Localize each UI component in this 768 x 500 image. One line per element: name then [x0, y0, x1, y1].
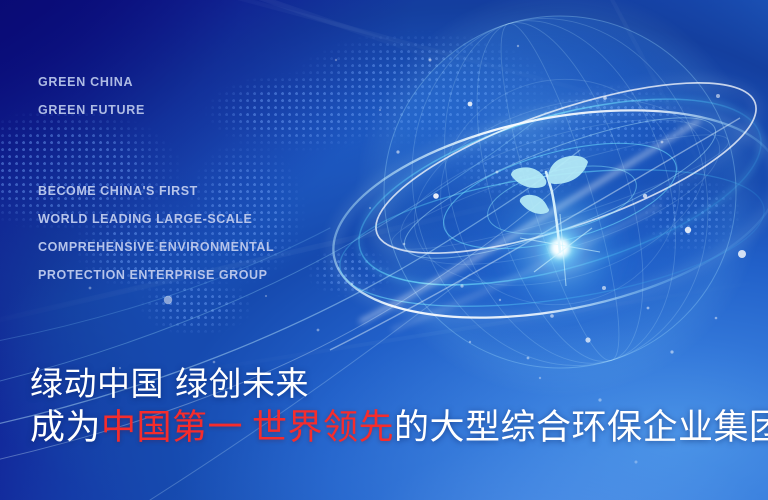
english-main-line-3: COMPREHENSIVE ENVIRONMENTAL: [38, 233, 274, 261]
chinese-headline-line-1: 绿动中国 绿创未来: [30, 364, 768, 404]
english-main-slogan: BECOME CHINA'S FIRST WORLD LEADING LARGE…: [38, 177, 274, 289]
core-light-trail: [330, 118, 740, 350]
chinese-headline: 绿动中国 绿创未来 成为中国第一世界领先的大型综合环保企业集团: [30, 364, 768, 450]
english-top-line-2: GREEN FUTURE: [38, 96, 145, 124]
english-main-line-1: BECOME CHINA'S FIRST: [38, 177, 274, 205]
english-main-line-4: PROTECTION ENTERPRISE GROUP: [38, 261, 274, 289]
globe-core-glow: [498, 186, 622, 310]
hero-banner: GREEN CHINA GREEN FUTURE BECOME CHINA'S …: [0, 0, 768, 500]
headline-highlight-world-leading: 世界领先: [252, 408, 394, 448]
english-top-line-1: GREEN CHINA: [38, 68, 145, 96]
headline-prefix: 成为: [30, 408, 101, 448]
english-top-slogan: GREEN CHINA GREEN FUTURE: [38, 68, 145, 124]
chinese-headline-line-2: 成为中国第一世界领先的大型综合环保企业集团: [30, 406, 768, 450]
headline-highlight-china-first: 中国第一: [101, 408, 243, 448]
headline-suffix: 的大型综合环保企业集团: [394, 408, 768, 448]
sprout-icon: [511, 156, 588, 252]
orbit-rings: [316, 48, 768, 351]
english-main-line-2: WORLD LEADING LARGE-SCALE: [38, 205, 274, 233]
